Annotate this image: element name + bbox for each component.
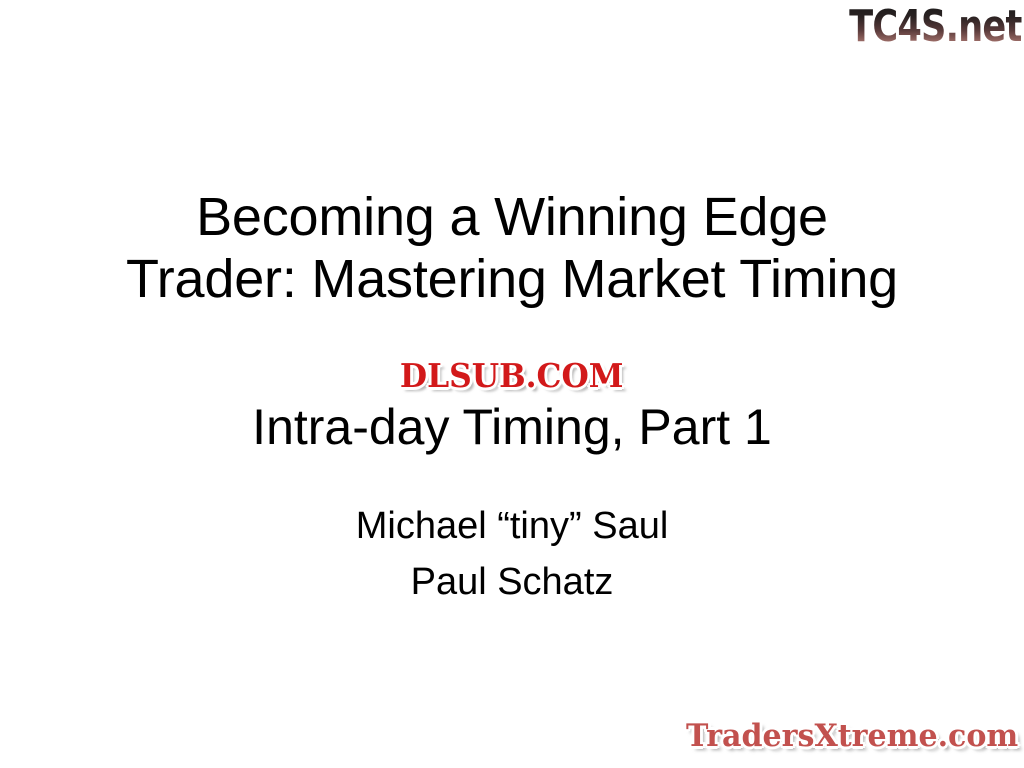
slide-authors: Michael “tiny” Saul Paul Schatz: [0, 498, 1024, 610]
slide-subtitle: Intra-day Timing, Part 1: [0, 398, 1024, 456]
presentation-title-slide: TC4S.net Becoming a Winning Edge Trader:…: [0, 0, 1024, 768]
tc4s-logo: TC4S.net: [826, 2, 1022, 52]
author-name-secondary: Paul Schatz: [0, 554, 1024, 610]
tradersxtreme-watermark-text: TradersXtreme.com: [686, 718, 1018, 754]
slide-title-line-2: Trader: Mastering Market Timing: [0, 248, 1024, 310]
dlsub-watermark: DLSUB.COM: [0, 358, 1024, 394]
tradersxtreme-watermark: TradersXtreme.com: [686, 718, 1024, 754]
tc4s-logo-text: TC4S.net: [850, 4, 1022, 50]
slide-title: Becoming a Winning Edge Trader: Masterin…: [0, 186, 1024, 310]
slide-title-line-1: Becoming a Winning Edge: [0, 186, 1024, 248]
dlsub-watermark-text: DLSUB.COM: [400, 358, 624, 394]
author-name-primary: Michael “tiny” Saul: [0, 498, 1024, 554]
slide-subtitle-line-1: Intra-day Timing, Part 1: [0, 398, 1024, 456]
